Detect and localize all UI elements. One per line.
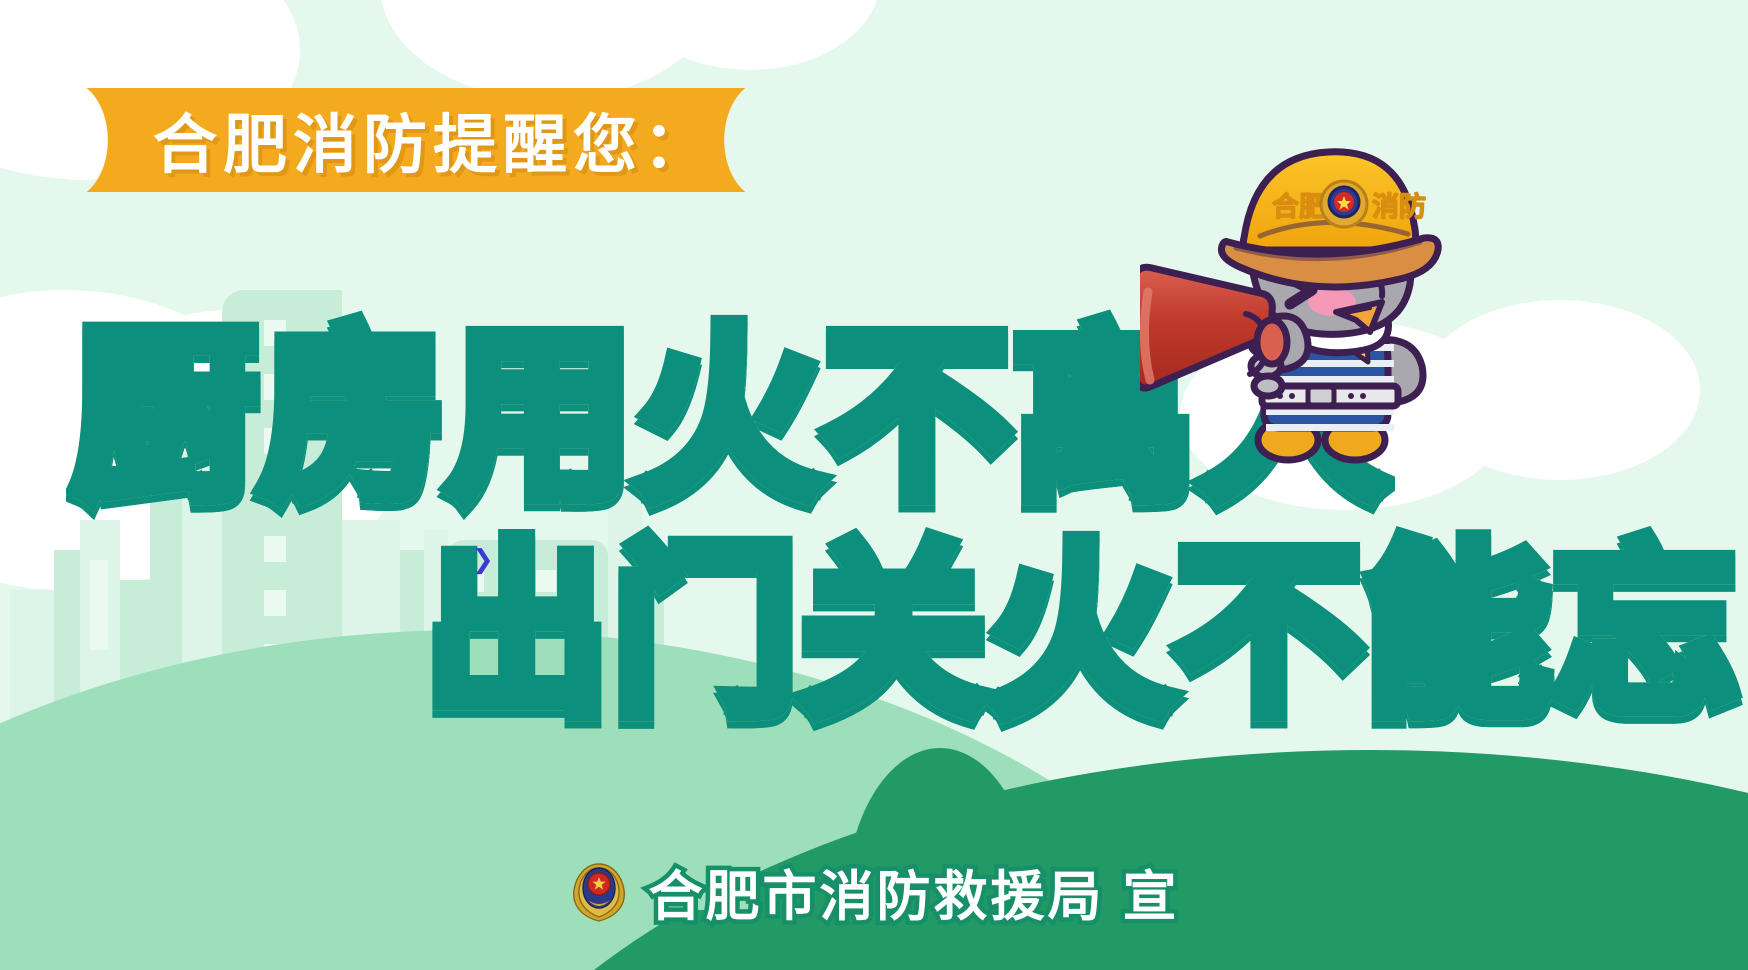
ribbon-label: 合肥消防提醒您： [66,88,766,192]
footer-credit: 合肥市消防救援局 宣 [0,852,1748,931]
fire-service-emblem-icon [568,860,630,924]
helmet-emblem-icon [1321,181,1367,227]
mouse-cursor-artifact: ❯ [472,546,494,572]
reminder-ribbon: 合肥消防提醒您： [66,88,766,192]
helmet-text-right: 消防 [1372,192,1426,222]
mascot-illustration: 合肥 消防 [1140,130,1500,470]
firefighter-dove-mascot: 合肥 消防 [1140,130,1500,470]
footer-organization-label: 合肥市消防救援局 宣 [648,852,1179,931]
poster-canvas: 合肥消防提醒您： 厨房用火不离人 出门关火不能忘 ❯ [0,0,1748,970]
helmet-text-left: 合肥 [1272,191,1326,222]
headline-line-2: 出门关火不能忘 [424,480,1740,750]
